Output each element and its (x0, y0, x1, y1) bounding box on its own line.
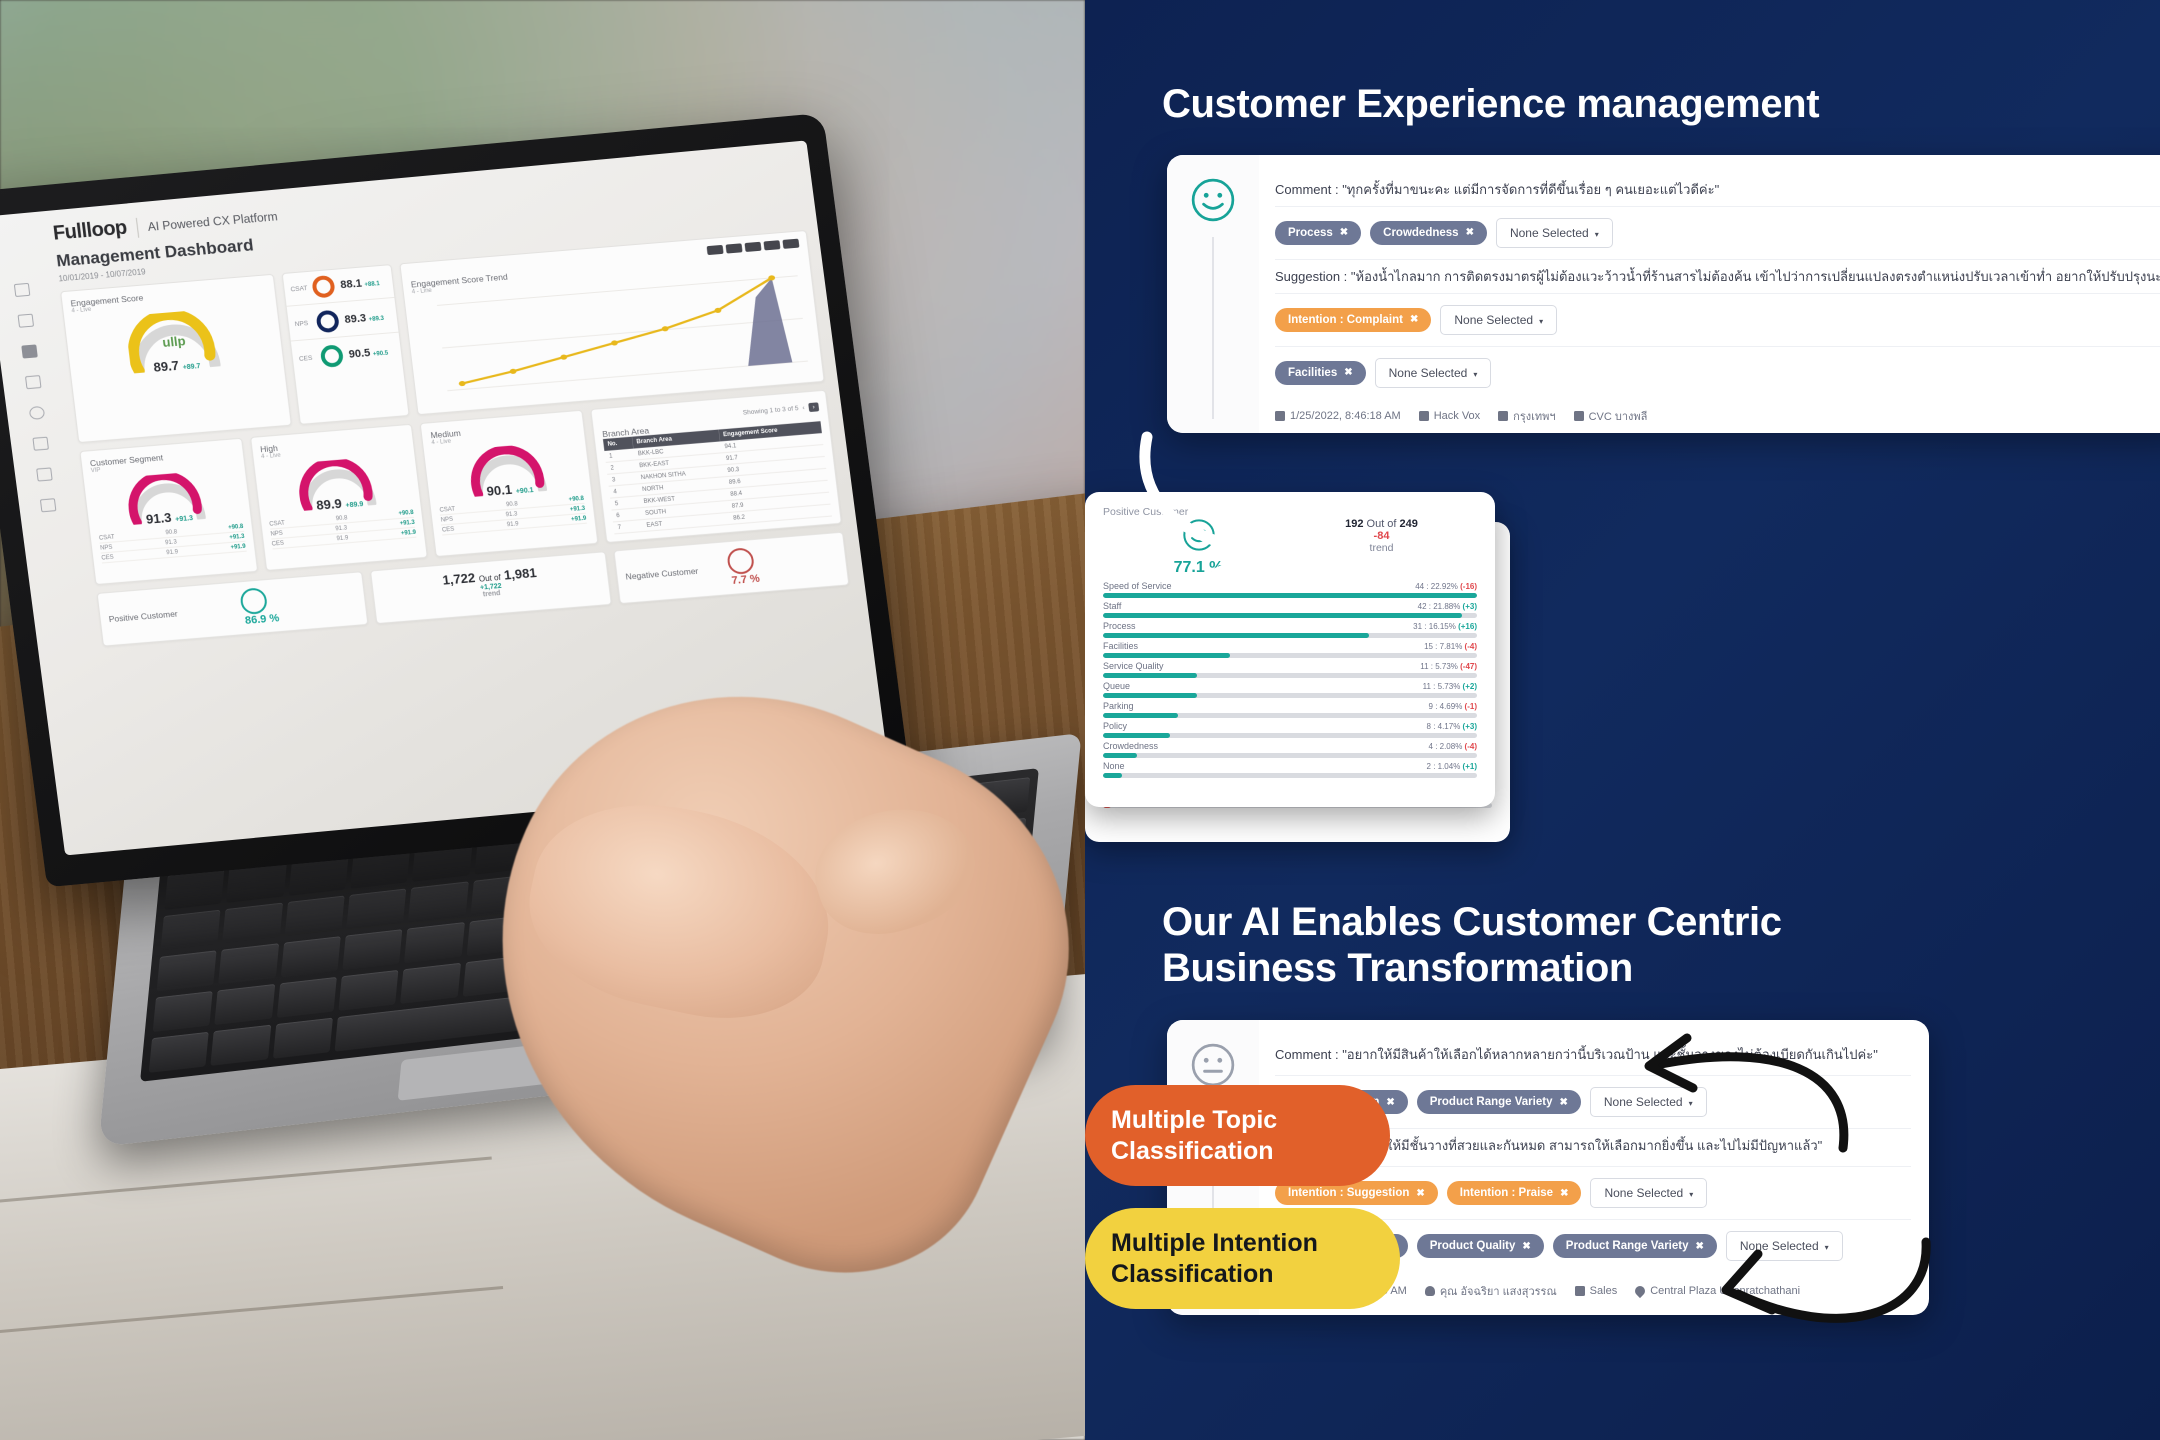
bar-row: Queue11 : 5.73% (+2) (1103, 681, 1477, 698)
store-icon (1574, 411, 1584, 421)
sidebar-location-icon[interactable] (28, 406, 45, 420)
sidebar-grid-icon[interactable] (17, 314, 34, 328)
kpi-card: CSAT 88.1 +88.1 NPS (282, 264, 410, 425)
bar-track (1103, 653, 1477, 658)
bar-row: Crowdedness4 : 2.08% (-4) (1103, 741, 1477, 758)
chip-remove-icon[interactable]: ✖ (1560, 1188, 1568, 1199)
bar-row-header: Process31 : 16.15% (+16) (1103, 621, 1477, 631)
callout-topic-line1: Multiple Topic (1111, 1105, 1364, 1136)
pager-prev[interactable]: ‹ (802, 404, 805, 411)
bar-value: 42 : 21.88% (+3) (1418, 602, 1477, 611)
bar-value: 4 : 2.08% (-4) (1429, 742, 1477, 751)
intention-select[interactable]: None Selected▾ (1590, 1178, 1707, 1208)
bar-label: Policy (1103, 721, 1127, 731)
segment-card-high: High 4 - Live 89.9 +89.9 (250, 424, 429, 571)
chip-remove-icon[interactable]: ✖ (1410, 314, 1418, 325)
bar-track (1103, 773, 1477, 778)
kpi-label: NPS (294, 319, 311, 327)
positive-count-total: 249 (1400, 518, 1418, 530)
bar-value: 11 : 5.73% (+2) (1423, 682, 1477, 691)
smiley-sad-icon (726, 547, 755, 575)
bar-row-header: None2 : 1.04% (+1) (1103, 761, 1477, 771)
callout-multiple-topic: Multiple Topic Classification (1085, 1085, 1390, 1186)
meta-datetime: 1/25/2022, 8:46:18 AM (1275, 410, 1401, 422)
kpi-value: 90.5 (348, 347, 371, 361)
sidebar-settings-icon[interactable] (36, 467, 53, 481)
chevron-down-icon: ▾ (1595, 230, 1599, 239)
chip-remove-icon[interactable]: ✖ (1340, 227, 1348, 238)
kpi-trend: +89.3 (368, 316, 384, 323)
bar-track (1103, 633, 1477, 638)
kpi-ring-icon (315, 310, 340, 334)
topic-chip[interactable]: Crowdedness✖ (1370, 221, 1487, 245)
bar-track (1103, 753, 1477, 758)
bar-value: 15 : 7.81% (-4) (1424, 642, 1477, 651)
bar-row: Speed of Service44 : 22.92% (-16) (1103, 581, 1477, 598)
suggestion-value: "ห้องน้ำไกลมาก การติดตรงมาตรผู้ไม่ต้องแว… (1351, 269, 2160, 284)
respondents-count: 1,722 Out of 1,981 +1,722 trend (380, 560, 601, 607)
bar-value: 8 : 4.17% (+3) (1427, 722, 1477, 731)
bar-row-header: Facilities15 : 7.81% (-4) (1103, 641, 1477, 651)
calendar-icon (1275, 411, 1285, 421)
topic-chip[interactable]: Product Quality✖ (1417, 1234, 1544, 1258)
bar-track (1103, 673, 1477, 678)
suggestion-text-row: Suggestion : "ห้องน้ำไกลมาก การติดตรงมาต… (1275, 260, 2160, 294)
kpi-label: CES (299, 354, 316, 362)
meta-channel: Hack Vox (1419, 410, 1480, 422)
comment-text-row: Comment : "อยากให้มีสินค้าให้เลือกได้หลา… (1275, 1038, 1911, 1076)
topic-chip[interactable]: Facilities✖ (1275, 361, 1366, 385)
bar-fill (1103, 673, 1197, 678)
bar-row: Facilities15 : 7.81% (-4) (1103, 641, 1477, 658)
bar-row: Process31 : 16.15% (+16) (1103, 621, 1477, 638)
brand-name: Fullloop (52, 217, 128, 245)
bar-value: 44 : 22.92% (-16) (1415, 582, 1477, 591)
meta-branch: Central Plaza Ubonratchathani (1635, 1285, 1800, 1297)
bar-track (1103, 593, 1477, 598)
bar-row-header: Crowdedness4 : 2.08% (-4) (1103, 741, 1477, 751)
sidebar-home-icon[interactable] (13, 283, 30, 297)
topic-select-1[interactable]: None Selected▾ (1496, 218, 1613, 248)
heading-ai-line1: Our AI Enables Customer Centric (1162, 900, 1782, 946)
kpi-trend: +88.1 (364, 281, 380, 288)
segment-gauge-high: 89.9 +89.9 (296, 457, 380, 511)
header-divider (136, 217, 139, 237)
bar-fill (1103, 693, 1197, 698)
content-panel: Customer Experience management Comment :… (1085, 0, 2160, 1440)
drawer-divider (0, 1286, 503, 1334)
chevron-down-icon: ▾ (1473, 370, 1477, 379)
smiley-happy-icon (239, 587, 268, 615)
bar-row-header: Staff42 : 21.88% (+3) (1103, 601, 1477, 611)
bar-fill (1103, 753, 1137, 758)
comment-meta-row: 1/25/2022, 8:46:18 AM Hack Vox กรุงเทพฯ … (1275, 399, 2160, 423)
suggestion-label: Suggestion : (1275, 269, 1351, 284)
callout-topic-line2: Classification (1111, 1136, 1364, 1167)
bar-fill (1103, 633, 1369, 638)
sidebar-report-icon[interactable] (24, 375, 41, 389)
heading-ai-line2: Business Transformation (1162, 946, 1782, 992)
bar-row: None2 : 1.04% (+1) (1103, 761, 1477, 778)
positive-customer-label: Positive Customer (108, 608, 178, 624)
topic-chip[interactable]: Product Range Variety✖ (1417, 1090, 1581, 1114)
comment-card-top: Comment : "ทุกครั้งที่มาขนะคะ แต่มีการจั… (1167, 155, 2160, 433)
heading-cx-management: Customer Experience management (1162, 82, 1819, 128)
segment-metrics-medium: CSAT90.8+90.8 NPS91.3+91.3 CES91.9+91.9 (439, 494, 587, 536)
laptop-photo: Fullloop AI Powered CX Platform Manageme… (0, 0, 1085, 1440)
store-icon (1498, 411, 1508, 421)
comment-card-sentiment-rail (1167, 155, 1259, 433)
sidebar-user-icon[interactable] (39, 498, 56, 512)
topic-select-2[interactable]: None Selected▾ (1726, 1231, 1843, 1261)
comment-value: "อยากให้มีสินค้าให้เลือกได้หลากหลายกว่าน… (1342, 1047, 1878, 1062)
bar-row-header: Policy8 : 4.17% (+3) (1103, 721, 1477, 731)
engagement-gauge-trend: +89.7 (182, 363, 201, 371)
engagement-trend-card: Engagement Score Trend 4 - Line (399, 230, 824, 415)
bar-fill (1103, 733, 1170, 738)
kpi-trend: +90.5 (373, 351, 389, 358)
bar-label: Speed of Service (1103, 581, 1172, 591)
positive-count-label: Out of (1367, 518, 1397, 530)
meta-branch: CVC บางพลี (1574, 407, 1648, 423)
smiley-happy-icon (1182, 518, 1216, 552)
callout-multiple-intention: Multiple Intention Classification (1085, 1208, 1400, 1309)
sidebar-dashboard-icon[interactable] (21, 344, 38, 358)
bar-value: 31 : 16.15% (+16) (1413, 622, 1477, 631)
bar-value: 11 : 5.73% (-47) (1420, 662, 1477, 671)
bar-label: None (1103, 761, 1125, 771)
meta-person: คุณ อัจฉริยา แสงสุวรรณ (1425, 1282, 1557, 1300)
segment-gauge-trend: +91.3 (175, 515, 194, 523)
bar-row-header: Parking9 : 4.69% (-1) (1103, 701, 1477, 711)
callout-intention-line1: Multiple Intention (1111, 1228, 1374, 1259)
bar-row: Service Quality11 : 5.73% (-47) (1103, 661, 1477, 678)
chip-remove-icon[interactable]: ✖ (1416, 1188, 1424, 1199)
engagement-gauge: ullp 89.7 +89.7 (125, 309, 224, 374)
bar-row: Policy8 : 4.17% (+3) (1103, 721, 1477, 738)
bar-fill (1103, 613, 1462, 618)
chevron-down-icon: ▾ (1689, 1099, 1693, 1108)
topic-select-2[interactable]: None Selected▾ (1375, 358, 1492, 388)
positive-trend-label: trend (1290, 542, 1473, 554)
smiley-happy-icon (1190, 177, 1236, 223)
heading-ai-transformation: Our AI Enables Customer Centric Business… (1162, 900, 1782, 991)
branch-table: No. Branch Area Engagement Score 1BKK-LB… (603, 421, 832, 534)
bar-track (1103, 713, 1477, 718)
bar-label: Parking (1103, 701, 1134, 711)
customer-segment-card: Customer Segment VIP 91.3 +9 (79, 438, 258, 585)
bar-row-header: Queue11 : 5.73% (+2) (1103, 681, 1477, 691)
positive-panel-header: 77.1 % 192 Out of 249 -84 trend (1103, 518, 1477, 577)
topic-select-1[interactable]: None Selected▾ (1590, 1087, 1707, 1117)
comment-label: Comment : (1275, 1047, 1342, 1062)
pager-next[interactable]: › (808, 402, 819, 412)
engagement-score-card: Engagement Score 4 - Live ullp (60, 274, 292, 443)
bar-track (1103, 733, 1477, 738)
suggestion-value: "อยากให้มีชั้นวางที่สวยและกันหมด สามารถใ… (1351, 1138, 1822, 1153)
kpi-label: CSAT (290, 285, 307, 293)
intention-chip[interactable]: Intention : Praise✖ (1447, 1181, 1582, 1205)
positive-count: 192 Out of 249 -84 trend (1290, 518, 1473, 554)
kpi-ces: CES 90.5 +90.5 (291, 335, 403, 376)
laptop: Fullloop AI Powered CX Platform Manageme… (0, 150, 1085, 1050)
bar-fill (1103, 593, 1477, 598)
bar-label: Crowdedness (1103, 741, 1158, 751)
segment-gauge-medium: 90.1 +90.1 (466, 443, 550, 497)
store-icon (1575, 1286, 1585, 1296)
intention-tag-row: Intention : Complaint✖ None Selected▾ (1275, 294, 2160, 347)
bar-track (1103, 693, 1477, 698)
bar-fill (1103, 773, 1122, 778)
location-pin-icon (1633, 1284, 1647, 1298)
sidebar-list-icon[interactable] (32, 437, 49, 451)
bar-value: 9 : 4.69% (-1) (1429, 702, 1477, 711)
neutral-face-icon (1190, 1042, 1236, 1088)
intention-select[interactable]: None Selected▾ (1440, 305, 1557, 335)
positive-customer-card: Positive Customer 86.9 % (97, 571, 369, 646)
positive-customer-panel: Positive Customer 77.1 % 192 Out of 249 (1085, 492, 1495, 807)
positive-customer-value: 86.9 % (244, 612, 280, 627)
bar-value: 2 : 1.04% (+1) (1427, 762, 1477, 771)
positive-percent: 77.1 % (1107, 559, 1290, 577)
store-icon (1419, 411, 1429, 421)
segment-metrics-vip: CSAT90.8+90.8 NPS91.3+91.3 CES91.9+91.9 (98, 522, 246, 564)
meta-segment: กรุงเทพฯ (1498, 407, 1555, 423)
comment-text-row: Comment : "ทุกครั้งที่มาขนะคะ แต่มีการจั… (1275, 173, 2160, 207)
topic-tag-row-2: Facilities✖ None Selected▾ (1275, 347, 2160, 399)
bar-label: Facilities (1103, 641, 1138, 651)
bar-track (1103, 613, 1477, 618)
topic-tag-row-1: Process✖ Crowdedness✖ None Selected▾ (1275, 207, 2160, 260)
kpi-ring-icon (320, 344, 345, 368)
timeline-rule (1212, 237, 1214, 419)
chip-remove-icon[interactable]: ✖ (1559, 1097, 1567, 1108)
positive-bar-list: Speed of Service44 : 22.92% (-16)Staff42… (1103, 581, 1477, 778)
drawer-divider (0, 1156, 492, 1204)
chevron-down-icon: ▾ (1539, 317, 1543, 326)
segment-gauge-vip: 91.3 +91.3 (125, 471, 209, 525)
bar-label: Staff (1103, 601, 1121, 611)
topic-chip[interactable]: Product Range Variety✖ (1553, 1234, 1717, 1258)
negative-customer-label: Negative Customer (625, 566, 699, 582)
bar-label: Queue (1103, 681, 1130, 691)
kpi-value: 89.3 (344, 312, 367, 326)
bar-row: Parking9 : 4.69% (-1) (1103, 701, 1477, 718)
comment-label: Comment : (1275, 182, 1342, 197)
kpi-ring-icon (311, 275, 336, 299)
segment-card-medium: Medium 4 - Live 90.1 +90.1 (420, 410, 599, 557)
bar-row-header: Speed of Service44 : 22.92% (-16) (1103, 581, 1477, 591)
segment-gauge-trend: +90.1 (515, 487, 534, 495)
bar-row-header: Service Quality11 : 5.73% (-47) (1103, 661, 1477, 671)
positive-delta: -84 (1290, 530, 1473, 542)
brand-logo: Fullloop (52, 217, 128, 246)
segment-gauge-trend: +89.9 (345, 501, 364, 509)
comment-value: "ทุกครั้งที่มาขนะคะ แต่มีการจัดการที่ดีข… (1342, 182, 1719, 197)
segment-metrics-high: CSAT90.8+90.8 NPS91.3+91.3 CES91.9+91.9 (269, 508, 417, 550)
kpi-value: 88.1 (340, 278, 363, 292)
bar-fill (1103, 653, 1230, 658)
negative-customer-card: Negative Customer 7.7 % (613, 532, 849, 604)
callout-intention-line2: Classification (1111, 1259, 1374, 1290)
positive-panel-title: Positive Customer (1103, 506, 1477, 518)
positive-score: 77.1 % (1107, 518, 1290, 577)
chip-remove-icon[interactable]: ✖ (1344, 367, 1352, 378)
bar-row: Staff42 : 21.88% (+3) (1103, 601, 1477, 618)
bar-fill (1103, 713, 1178, 718)
brand-tagline: AI Powered CX Platform (147, 209, 278, 234)
branch-area-card: Showing 1 to 3 of 5 ‹ › Branch Area No. … (590, 390, 842, 543)
chevron-down-icon: ▾ (1689, 1190, 1693, 1199)
meta-channel: Sales (1575, 1285, 1618, 1297)
topic-chip[interactable]: Process✖ (1275, 221, 1361, 245)
chip-remove-icon[interactable]: ✖ (1522, 1241, 1530, 1252)
bar-label: Process (1103, 621, 1136, 631)
intention-chip[interactable]: Intention : Complaint✖ (1275, 308, 1431, 332)
chevron-down-icon: ▾ (1825, 1243, 1829, 1252)
chip-remove-icon[interactable]: ✖ (1696, 1241, 1704, 1252)
respondents-card: 1,722 Out of 1,981 +1,722 trend (370, 551, 612, 624)
person-icon (1425, 1286, 1435, 1296)
chip-remove-icon[interactable]: ✖ (1466, 227, 1474, 238)
slide-root: Fullloop AI Powered CX Platform Manageme… (0, 0, 2160, 1440)
negative-customer-value: 7.7 % (731, 573, 761, 587)
bar-label: Service Quality (1103, 661, 1164, 671)
comment-card-body: Comment : "ทุกครั้งที่มาขนะคะ แต่มีการจั… (1259, 155, 2160, 433)
positive-count-value: 192 (1345, 518, 1363, 530)
chip-remove-icon[interactable]: ✖ (1386, 1097, 1394, 1108)
